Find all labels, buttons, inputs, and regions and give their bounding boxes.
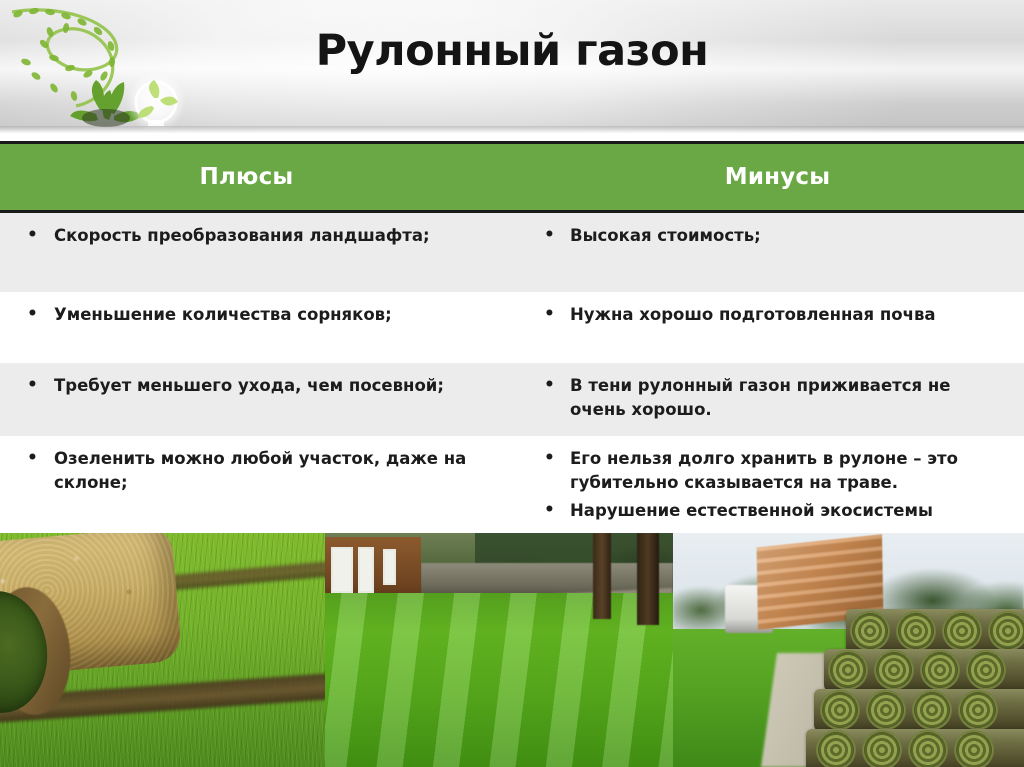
sod-roll-coil [988,611,1024,651]
list-item: Нужна хорошо подготовленная почва [524,303,1010,327]
sod-roll-coil [850,611,890,651]
striped-lawn-photo [325,533,673,767]
list-item: Высокая стоимость; [524,224,1010,248]
column-header-pros: Плюсы [0,144,503,210]
sod-roll-coil [816,730,856,767]
list-item: В тени рулонный газон приживается не оче… [524,374,1010,423]
sod-roll-layer [806,729,1024,767]
sod-roll-coil [820,690,860,730]
mowing-stripes [325,593,673,767]
sod-roll-coil [866,690,906,730]
sod-roll-coil [874,650,914,690]
cell-pros: Уменьшение количества сорняков; [0,292,512,363]
sod-roll-coil [908,730,948,767]
list-item: Требует меньшего ухода, чем посевной; [14,374,498,398]
sod-roll-layer [846,609,1024,653]
page-title: Рулонный газон [0,26,1024,76]
table-row: Уменьшение количества сорняков; Нужна хо… [0,292,1024,363]
tree-trunk [593,533,611,619]
sod-roll-on-lawn-photo [0,533,325,767]
tree-trunk [637,533,659,625]
list-item: Озеленить можно любой участок, даже на с… [14,447,498,496]
slide-root: Рулонный газон Плюсы Минусы Скорость пре… [0,0,1024,767]
sod-roll-layer [824,649,1024,691]
house-window [383,549,396,585]
cell-pros: Озеленить можно любой участок, даже на с… [0,436,512,533]
house-window [358,547,374,593]
sod-roll-stack [800,603,1024,767]
table-row: Требует меньшего ухода, чем посевной; В … [0,363,1024,436]
column-header-cons: Минусы [503,144,1024,210]
table-row: Скорость преобразования ландшафта; Высок… [0,213,1024,292]
photo-strip [0,533,1024,767]
stacked-sod-rolls-photo [673,533,1024,767]
sod-roll-coil [942,611,982,651]
list-item: Уменьшение количества сорняков; [14,303,498,327]
cell-cons: В тени рулонный газон приживается не оче… [512,363,1024,436]
cell-pros: Скорость преобразования ландшафта; [0,213,512,292]
cell-cons: Нужна хорошо подготовленная почва [512,292,1024,363]
cell-cons: Высокая стоимость; [512,213,1024,292]
sod-roll-coil [912,690,952,730]
list-item: Его нельзя долго хранить в рулоне – это … [524,447,1010,496]
list-item: Нарушение естественной экосистемы [524,499,1010,523]
sod-roll-coil [966,650,1006,690]
sod-roll-layer [814,689,1024,731]
list-item: Скорость преобразования ландшафта; [14,224,498,248]
sod-roll-coil [896,611,936,651]
table-row: Озеленить можно любой участок, даже на с… [0,436,1024,533]
header-divider [0,126,1024,133]
sod-roll-coil [954,730,994,767]
cell-pros: Требует меньшего ухода, чем посевной; [0,363,512,436]
sod-roll-coil [862,730,902,767]
pros-cons-table: Плюсы Минусы Скорость преобразования лан… [0,141,1024,533]
sod-roll-coil [958,690,998,730]
table-header-row: Плюсы Минусы [0,141,1024,213]
slide-header-banner: Рулонный газон [0,0,1024,133]
house-window [331,547,353,593]
table-body: Скорость преобразования ландшафта; Высок… [0,213,1024,533]
sod-roll-coil [920,650,960,690]
cell-cons: Его нельзя долго хранить в рулоне – это … [512,436,1024,533]
sod-roll-coil [828,650,868,690]
